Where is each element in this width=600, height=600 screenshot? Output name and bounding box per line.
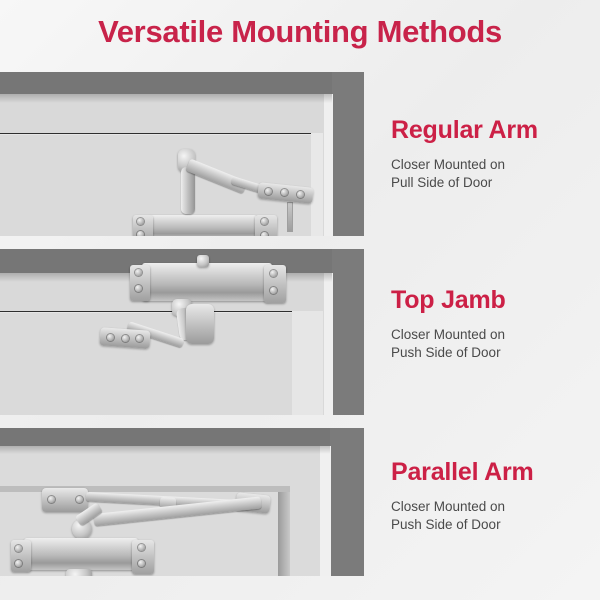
bracket-screw-1 [265,188,272,195]
product-infographic: Versatile Mounting Methods [0,0,600,600]
door-jamb-right [332,72,364,236]
closer-screw-2 [15,560,22,567]
door-jamb-right-highlight [324,273,333,415]
bracket-screw-1 [48,496,55,503]
door-stile-reveal [278,486,290,576]
door-panel-bevel [292,311,323,415]
closer-housing [148,215,258,236]
bracket-screw-3 [297,191,304,198]
closer-screw-1 [15,545,22,552]
subtext-top-jamb-line2: Push Side of Door [391,344,506,362]
subtext-regular-arm-line1: Closer Mounted on [391,156,538,174]
bracket-screw-1 [107,334,114,341]
image-top-jamb [0,249,364,415]
label-block-parallel-arm: Parallel Arm Closer Mounted on Push Side… [391,458,534,534]
door-jamb-right [332,249,364,415]
closer-screw-2 [137,231,144,236]
closer-valve-cover [66,569,92,576]
main-arm-lower [181,167,195,214]
label-block-regular-arm: Regular Arm Closer Mounted on Pull Side … [391,116,538,192]
page-title: Versatile Mounting Methods [0,14,600,50]
heading-parallel-arm: Parallel Arm [391,458,534,487]
heading-top-jamb: Top Jamb [391,286,506,315]
closer-screw-1 [137,218,144,225]
subtext-parallel-arm-line2: Push Side of Door [391,516,534,534]
closer-screw-1 [135,269,142,276]
door-jamb-right-highlight [320,446,331,576]
door-jamb-right [330,428,364,576]
heading-regular-arm: Regular Arm [391,116,538,145]
image-parallel-arm [0,428,364,576]
subtext-regular-arm-line2: Pull Side of Door [391,174,538,192]
subtext-top-jamb-line1: Closer Mounted on [391,326,506,344]
closer-body-main [142,263,272,301]
closer-screw-2 [135,285,142,292]
door-jamb-right-highlight [324,94,333,236]
image-regular-arm [0,72,364,236]
closer-end-cap-left [11,540,31,572]
door-top-shadow [0,94,332,103]
strike-plate [288,203,292,231]
closer-screw-3 [261,218,268,225]
bracket-screw-3 [136,335,143,342]
bracket-screw-2 [122,335,129,342]
closer-screw-4 [138,560,145,567]
closer-screw-4 [261,232,268,236]
closer-screw-4 [270,287,277,294]
bracket-screw-2 [76,496,83,503]
closer-screw-3 [270,270,277,277]
door-top-shadow [0,446,330,454]
door-panel-bevel [311,133,323,236]
subtext-parallel-arm-line1: Closer Mounted on [391,498,534,516]
closer-body-main [24,538,138,570]
closer-screw-3 [138,544,145,551]
label-block-top-jamb: Top Jamb Closer Mounted on Push Side of … [391,286,506,362]
closer-mount-tab [197,255,209,267]
arm-knuckle [186,304,214,344]
bracket-screw-2 [281,189,288,196]
